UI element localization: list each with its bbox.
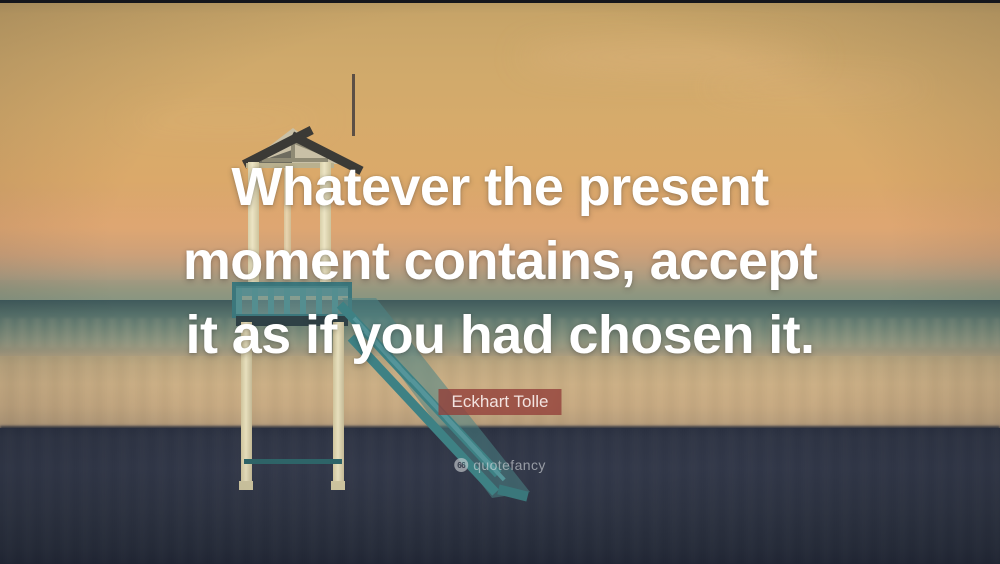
- watermark: 66 quotefancy: [454, 457, 546, 473]
- tower-antenna: [352, 74, 355, 136]
- tower-leg-brace: [244, 459, 342, 464]
- quote-line-1: Whatever the present: [0, 150, 1000, 224]
- quote-text-block: Whatever the present moment contains, ac…: [0, 150, 1000, 372]
- tower-leg-foot: [331, 481, 345, 490]
- author-badge: Eckhart Tolle: [438, 389, 561, 415]
- quote-line-3: it as if you had chosen it.: [0, 298, 1000, 372]
- quote-line-2: moment contains, accept: [0, 224, 1000, 298]
- letterbox-bar-top: [0, 0, 1000, 3]
- quotefancy-logo-icon: 66: [454, 458, 468, 472]
- quote-image-card: Whatever the present moment contains, ac…: [0, 0, 1000, 564]
- watermark-label: quotefancy: [473, 457, 546, 473]
- tower-leg-foot: [239, 481, 253, 490]
